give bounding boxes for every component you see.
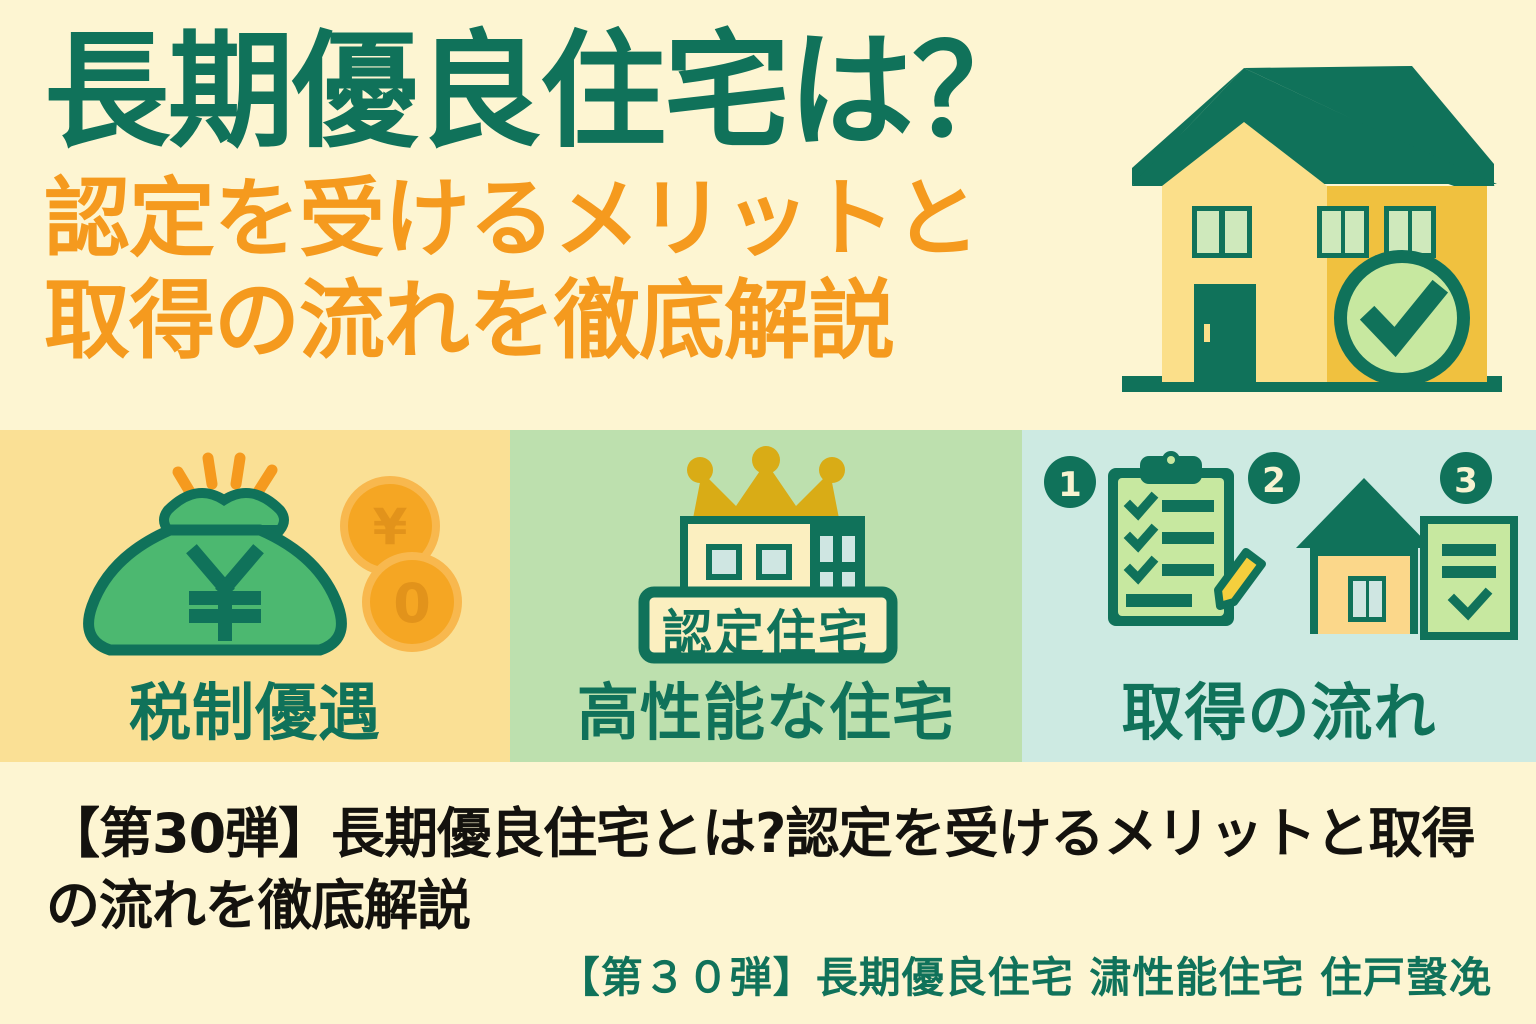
panel-high-performance[interactable]: 認定住宅 高性能な住宅 <box>510 430 1022 762</box>
plaque-text: 認定住宅 <box>510 594 1022 666</box>
article-caption: 【第30弾】長期優良住宅とは?認定を受けるメリットと取得の流れを徹底解説 <box>46 798 1496 943</box>
certificate-icon <box>1420 516 1518 640</box>
svg-text:3: 3 <box>1454 461 1478 501</box>
panel-acquisition-flow[interactable]: 1 <box>1022 430 1536 762</box>
house-with-check-badge-icon <box>1112 46 1512 406</box>
money-bag-yen-icon: ¥ 0 <box>0 444 510 664</box>
acquisition-steps-icons: 1 <box>1022 444 1536 664</box>
coin-zero-symbol: 0 <box>393 572 431 635</box>
subtitle-line-2: 取得の流れを徹底解説 <box>44 273 1114 369</box>
hero-section: 長期優良住宅は？ 認定を受けるメリットと 取得の流れを徹底解説 <box>0 0 1536 430</box>
caption-section: 【第30弾】長期優良住宅とは?認定を受けるメリットと取得の流れを徹底解説 【第３… <box>0 762 1536 1024</box>
subtitle-line-1: 認定を受けるメリットと <box>44 171 1114 267</box>
footer-tags: 【第３０弾】長期優良住宅 㴋性能住宅 住戸螜凂 <box>0 944 1492 1005</box>
panel-label-flow: 取得の流れ <box>1022 662 1536 752</box>
clipboard-checklist-icon <box>1108 451 1234 626</box>
house-icon <box>1296 478 1432 634</box>
svg-text:1: 1 <box>1058 465 1082 505</box>
panel-label-tax: 税制優遇 <box>0 662 510 752</box>
panel-tax-benefits[interactable]: ¥ 0 税制優遇 <box>0 430 510 762</box>
step-badge-1: 1 <box>1044 456 1096 508</box>
crowned-building-icon: 認定住宅 <box>510 444 1022 664</box>
step-badge-2: 2 <box>1248 452 1300 504</box>
panel-label-performance: 高性能な住宅 <box>510 662 1022 752</box>
coin-yen-symbol: ¥ <box>373 498 408 556</box>
svg-text:2: 2 <box>1262 461 1286 501</box>
hero-text-block: 長期優良住宅は？ 認定を受けるメリットと 取得の流れを徹底解説 <box>44 28 1114 369</box>
step-badge-3: 3 <box>1440 452 1492 504</box>
page-title: 長期優良住宅は？ <box>44 28 1114 157</box>
feature-panels: ¥ 0 税制優遇 <box>0 430 1536 762</box>
